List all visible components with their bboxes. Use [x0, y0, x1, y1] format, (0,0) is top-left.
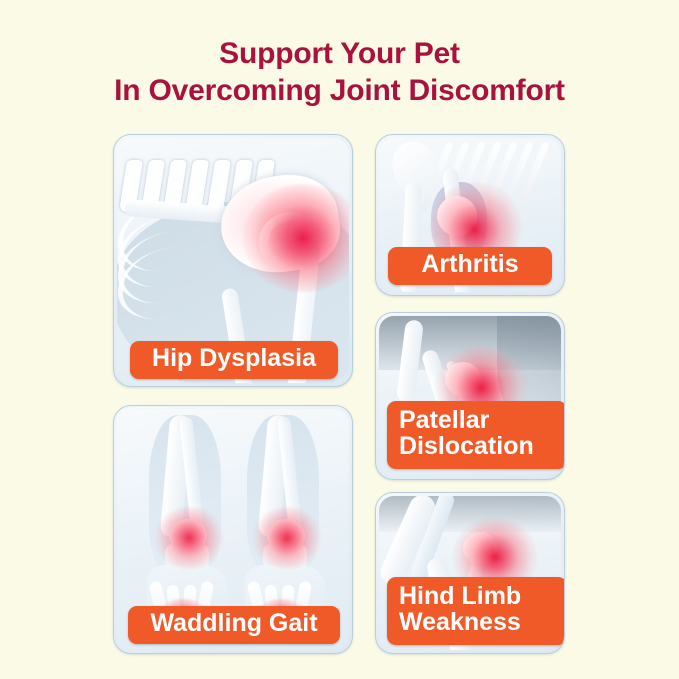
inflammation-glow-hock: [155, 507, 223, 569]
page-title: Support Your Pet In Overcoming Joint Dis…: [0, 36, 679, 109]
card-patellar-dislocation: Patellar Dislocation: [375, 312, 565, 480]
card-label-waddling-gait: Waddling Gait: [128, 606, 340, 644]
page-title-line-1: Support Your Pet: [0, 36, 679, 73]
card-label-arthritis: Arthritis: [388, 247, 552, 285]
page-title-line-2: In Overcoming Joint Discomfort: [0, 73, 679, 110]
card-label-hip-dysplasia: Hip Dysplasia: [130, 341, 338, 379]
card-label-patellar-dislocation: Patellar Dislocation: [387, 401, 565, 469]
card-hip-dysplasia: Hip Dysplasia: [113, 134, 353, 387]
card-label-hind-limb-weakness: Hind Limb Weakness: [387, 577, 565, 645]
card-hind-limb-weakness: Hind Limb Weakness: [375, 492, 565, 654]
card-arthritis: Arthritis: [375, 134, 565, 296]
inflammation-glow-hock: [253, 507, 321, 569]
card-waddling-gait: Waddling Gait: [113, 405, 353, 654]
rib-bone: [515, 141, 549, 212]
poster-root: Support Your Pet In Overcoming Joint Dis…: [0, 0, 679, 679]
